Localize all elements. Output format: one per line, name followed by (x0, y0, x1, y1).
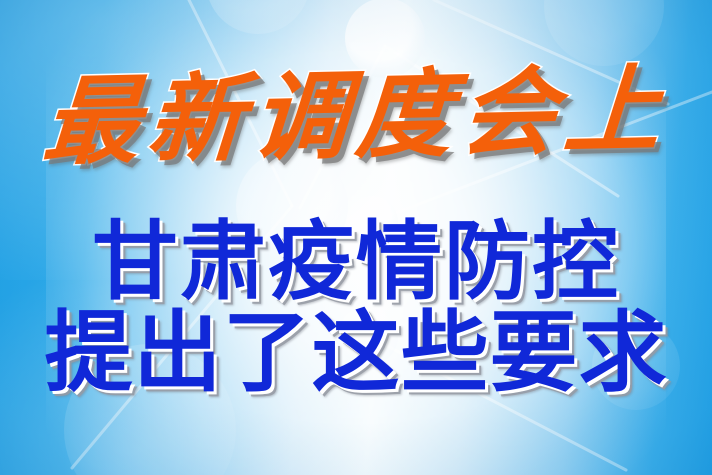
headline-orange: 最新调度会上 (0, 55, 712, 178)
headline-blue-line-2: 提出了这些要求 (0, 306, 712, 400)
poster-canvas: 最新调度会上 甘肃疫情防控 提出了这些要求 (0, 0, 712, 475)
headline-blue-line-1: 甘肃疫情防控 (0, 216, 712, 308)
